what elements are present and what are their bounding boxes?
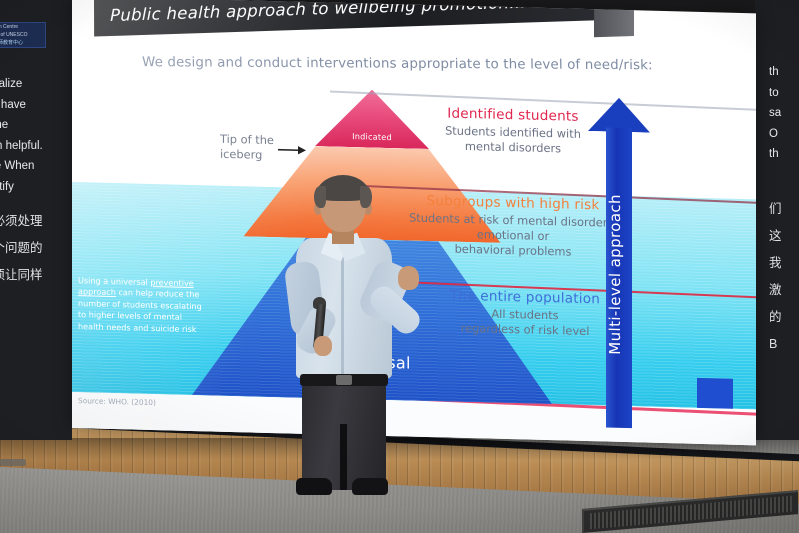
- right-side-display-panel: th to sa O th 们 这 我 激 的 B: [755, 0, 799, 440]
- right-en-line: sa: [769, 103, 781, 124]
- presenter-hair-side-right: [360, 186, 372, 208]
- left-cn-line: 们必须处理: [0, 208, 43, 235]
- left-en-line: … is the: [0, 115, 43, 136]
- left-en-line: …ation helpful.: [0, 136, 43, 157]
- badge-line-3: 科文组织教师教育中心: [0, 39, 45, 47]
- left-en-line: …t like When: [0, 156, 43, 177]
- right-cn-line: 们: [769, 196, 782, 223]
- annotation-arrow-icon: [278, 144, 306, 156]
- right-en-line: to: [769, 83, 781, 104]
- caption-pre: Using a universal: [78, 275, 150, 287]
- left-cn-line: 必须让同样: [0, 262, 43, 289]
- right-cn-line: B: [769, 331, 782, 358]
- left-side-display-panel: … Education Centre … auspices of UNESCO …: [0, 0, 72, 440]
- left-cn-line: 这个问题的: [0, 235, 43, 262]
- right-en-line: th: [769, 62, 781, 83]
- slide-subtitle: We design and conduct interventions appr…: [142, 55, 702, 73]
- presenter-leg-gap: [340, 424, 347, 490]
- presentation-photo-scene: … Education Centre … auspices of UNESCO …: [0, 0, 799, 533]
- right-en-line: O: [769, 124, 781, 145]
- presenter-hand-mic: [314, 336, 332, 356]
- right-en-line: th: [769, 144, 781, 165]
- universal-prevention-caption: Using a universal preventive approach ca…: [78, 275, 208, 335]
- arrow-label: Multi-level approach: [606, 150, 632, 401]
- right-panel-english-text: th to sa O th: [769, 62, 781, 165]
- left-en-line: …adicalize: [0, 74, 43, 95]
- multi-level-approach-arrow: Multi-level approach: [588, 97, 650, 429]
- title-banner-edge: [594, 6, 634, 37]
- right-cn-line: 我: [769, 250, 782, 277]
- unesco-centre-badge: … Education Centre … auspices of UNESCO …: [0, 22, 46, 48]
- left-en-line: … We have: [0, 95, 43, 116]
- right-cn-line: 激: [769, 277, 782, 304]
- presenter-shoe-right: [352, 478, 388, 495]
- right-cn-line: 这: [769, 223, 782, 250]
- slide-title-banner: Public health approach to wellbeing prom…: [94, 0, 594, 37]
- badge-line-2: … auspices of UNESCO: [0, 31, 45, 39]
- bottom-blue-block: [697, 378, 733, 409]
- presenter-hair-side-left: [314, 186, 326, 208]
- pyramid-label-indicated: Indicated: [350, 131, 394, 142]
- slide-source-note: Source: WHO. (2010): [78, 396, 156, 407]
- slide-title: Public health approach to wellbeing prom…: [110, 0, 526, 25]
- floor-vent: [0, 459, 26, 466]
- presenter-hand-raised: [398, 266, 419, 290]
- presenter-shirt-placket: [341, 252, 344, 376]
- left-en-line: …identify: [0, 177, 43, 198]
- left-panel-chinese-text: 们必须处理 这个问题的 必须让同样: [0, 208, 43, 289]
- badge-line-1: … Education Centre: [0, 23, 45, 31]
- presenter-person: [268, 178, 428, 500]
- presenter-belt-buckle: [336, 375, 352, 385]
- left-panel-english-text: …adicalize … We have … is the …ation hel…: [0, 74, 43, 197]
- right-panel-chinese-text: 们 这 我 激 的 B: [769, 196, 782, 358]
- right-cn-line: 的: [769, 304, 782, 331]
- presenter-shoe-left: [296, 478, 332, 495]
